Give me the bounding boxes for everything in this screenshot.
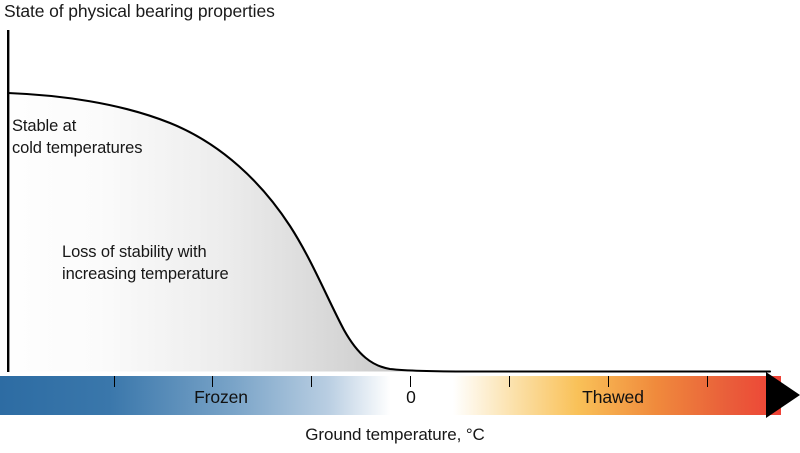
annotation-loss-line1: Loss of stability with: [62, 243, 207, 261]
annotation-stable-line2: cold temperatures: [12, 139, 142, 157]
plot-area: Stable atcold temperatures Loss of stabi…: [0, 0, 800, 376]
annotation-loss-of-stability: Loss of stability withincreasing tempera…: [62, 242, 229, 286]
colorbar-tick-3: [311, 376, 312, 387]
annotation-stable-at-cold-temperatures: Stable atcold temperatures: [12, 116, 142, 160]
annotation-stable-line1: Stable at: [12, 117, 76, 135]
colorbar-label-zero: 0: [406, 387, 416, 408]
x-axis-label: Ground temperature, °C: [0, 425, 790, 445]
colorbar-tick-2: [212, 376, 213, 387]
colorbar-label-thawed: Thawed: [582, 387, 644, 408]
colorbar-tick-5: [509, 376, 510, 387]
colorbar-body: Frozen 0 Thawed: [0, 376, 781, 415]
annotation-loss-line2: increasing temperature: [62, 265, 229, 283]
colorbar-tick-zero: [410, 376, 411, 387]
colorbar-tick-1: [114, 376, 115, 387]
temperature-colorbar: Frozen 0 Thawed: [0, 376, 800, 415]
colorbar-gradient: [0, 376, 781, 415]
colorbar-label-frozen: Frozen: [194, 387, 248, 408]
colorbar-tick-7: [707, 376, 708, 387]
bearing-properties-figure: State of physical bearing properties: [0, 0, 800, 453]
arrow-right-icon: [766, 372, 800, 418]
colorbar-tick-6: [608, 376, 609, 387]
curve-svg: [0, 0, 800, 376]
